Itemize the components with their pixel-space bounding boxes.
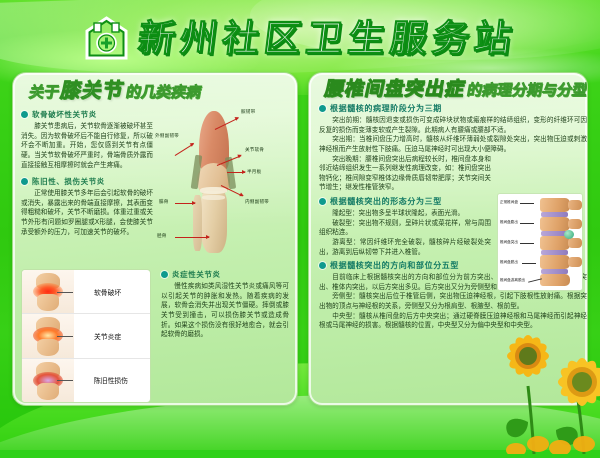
spine-label-disc-bulge: 椎间盘膨出: [500, 220, 518, 225]
vertebra-shape: [540, 274, 570, 286]
meniscus-shape: [202, 195, 225, 200]
arrow-to-meniscus: [227, 172, 245, 173]
left-text-column: 软骨破坏性关节炎 膝关节患病后，关节软骨逐渐被破坏甚至消失。因为软骨破坏后不能自…: [21, 109, 153, 243]
section-paragraph: 游离型：常因纤维环完全破裂，髓核碎片经破裂处突出，游离到后纵韧带下并进入椎管。: [319, 238, 491, 257]
section-title: 根据髓核突出的方向和部位分五型: [330, 260, 459, 271]
cartilage-shape: [200, 187, 227, 194]
spine-diagram: 正常椎间盘 椎间盘膨出 椎间盘突出 椎间盘脱出 椎间盘游离脱出: [497, 193, 583, 291]
section-paragraph: 突出前期：髓核因退变或损伤可变成碎块状物或瘢痕样的结缔组织，变形的纤维环可因反复…: [319, 116, 587, 135]
section-title: 陈旧性、损伤关节炎: [32, 176, 105, 187]
section-heading-row: 根据髓核的病理阶段分为三期: [319, 103, 587, 114]
section-heading-row: 软骨破坏性关节炎: [21, 109, 153, 120]
label-patellar-ligament: 髌韧带: [241, 109, 255, 115]
section-pathological-stages: 根据髓核的病理阶段分为三期 突出前期：髓核因退变或损伤可变成碎块状物或瘢痕样的结…: [319, 103, 587, 193]
section-paragraph: 破裂型：突出物不规则，呈碎片状或菜花样，常与周围组织粘连。: [319, 219, 491, 238]
right-title-tail: 的病理分期与分型: [466, 83, 588, 98]
spine-label-disc-sequestration: 椎间盘游离脱出: [500, 278, 525, 283]
leader-line: [520, 223, 534, 224]
section-body: 正常使用膝关节多年后会引起软骨的破坏或消失，暴露出来的骨端直接摩擦，其表面变得粗…: [21, 189, 153, 237]
section-paragraph: 隆起型：突出物多呈半球状隆起，表面光滑。: [319, 209, 491, 219]
bone-lower-shape: [37, 339, 59, 356]
vertebra-shape: [540, 198, 570, 212]
thumbnail-row: 关节炎症: [22, 314, 150, 358]
thumbnail-label: 软骨破坏: [94, 289, 121, 297]
section-heading-row: 陈旧性、损伤关节炎: [21, 176, 153, 187]
thumbnail-row: 软骨破坏: [22, 270, 150, 314]
thumbnail-label-wrap: 陈旧性损伤: [74, 375, 128, 385]
spinous-process-shape: [568, 200, 582, 210]
section-body: 膝关节患病后，关节软骨逐渐被破坏甚至消失。因为软骨破坏后不能自行修复，所以破坏会…: [21, 122, 153, 170]
label-lateral-collateral-ligament: 外侧副韧带: [155, 133, 179, 139]
bullet-dot-icon: [319, 262, 326, 269]
right-panel-title: 腰椎间盘突出症的病理分期与分型: [309, 73, 587, 101]
section-cartilage-destructive-arthritis: 软骨破坏性关节炎 膝关节患病后，关节软骨逐渐被破坏甚至消失。因为软骨破坏后不能自…: [21, 109, 153, 170]
spine-illustration: [534, 196, 580, 288]
arrow-to-fibula: [175, 203, 195, 204]
spine-label-disc-protrusion: 椎间盘突出: [500, 240, 518, 245]
knee-photo: [191, 111, 237, 253]
leader-line: [57, 292, 73, 293]
content-panels: 关于膝关节的几类疾病 软骨破坏性关节炎 膝关节患病后，关节软骨逐渐被破坏甚至消失…: [12, 72, 588, 406]
label-meniscus: 半月板: [247, 169, 261, 175]
section-title: 根据髓核的病理阶段分为三期: [330, 103, 442, 114]
section-heading-row: 炎症性关节炎: [161, 269, 289, 280]
tibia-shape: [201, 191, 227, 253]
left-title-main: 膝关节: [59, 80, 126, 100]
vertebra-shape: [540, 255, 570, 269]
left-title-lead: 关于: [28, 85, 61, 100]
label-articular-cartilage: 关节软骨: [245, 147, 264, 153]
knee-condition-thumbnails: 软骨破坏 关节炎症: [21, 269, 151, 403]
vertebra-shape: [540, 217, 570, 231]
panel-lumbar-disc-herniation: 腰椎间盘突出症的病理分期与分型 根据髓核的病理阶段分为三期 突出前期：髓核因退变…: [308, 72, 588, 406]
label-medial-collateral-ligament: 内侧副韧带: [245, 199, 269, 205]
arrow-to-tibia: [175, 237, 209, 238]
spinous-process-shape: [568, 257, 582, 267]
thumbnail-label: 陈旧性损伤: [94, 377, 128, 385]
section-paragraph: 旁侧型：髓核突出后位于椎管后侧，突出物压迫神经根，引起下肢根性放射痛。根据突出物…: [319, 292, 587, 311]
section-body: 慢性疾病如类风湿性关节炎或痛风等可以引起关节的肿胀和发热。随着疾病的发展，软骨会…: [161, 282, 289, 340]
left-panel-title: 关于膝关节的几类疾病: [13, 73, 297, 102]
section-paragraph: 突出晚期：腰椎间盘突出后病程较长时，椎间盘本身和邻近结缔组织发生一系列继发性病理…: [319, 155, 491, 194]
bone-lower-shape: [37, 294, 59, 311]
poster-header: 新州社区卫生服务站: [0, 8, 600, 68]
section-paragraph: 突出期：当椎间盘压力增高时，髓核从纤维环薄弱处或裂隙处突出，突出物压迫或刺激神经…: [319, 135, 587, 154]
section-inflammatory-arthritis: 炎症性关节炎 慢性疾病如类风湿性关节炎或痛风等可以引起关节的肿胀和发热。随着疾病…: [161, 269, 289, 340]
thumbnail-row: 陈旧性损伤: [22, 359, 150, 402]
thumbnail-label: 关节炎症: [94, 333, 121, 341]
bone-lower-shape: [37, 383, 59, 400]
herniation-bulge-shape: [564, 230, 574, 239]
leader-line: [522, 263, 536, 264]
leader-line: [57, 380, 73, 381]
section-old-injury-arthritis: 陈旧性、损伤关节炎 正常使用膝关节多年后会引起软骨的破坏或消失，暴露出来的骨端直…: [21, 176, 153, 237]
spine-label-normal-disc: 正常椎间盘: [500, 200, 518, 205]
bullet-dot-icon: [319, 105, 326, 112]
thumbnail-label-wrap: 软骨破坏: [74, 287, 121, 297]
bullet-dot-icon: [21, 178, 28, 185]
bullet-dot-icon: [161, 271, 168, 278]
bullet-dot-icon: [21, 111, 28, 118]
section-paragraph: 中央型：髓核从椎间盘的后方中央突出；通过硬脊膜压迫神经根和马尾神经而引起神经根或…: [319, 312, 587, 331]
spinous-process-shape: [568, 219, 582, 229]
left-title-tail: 的几类疾病: [125, 85, 203, 100]
leader-line: [520, 243, 534, 244]
thumbnail-label-wrap: 关节炎症: [74, 331, 121, 341]
panel-knee-diseases: 关于膝关节的几类疾病 软骨破坏性关节炎 膝关节患病后，关节软骨逐渐被破坏甚至消失…: [12, 72, 298, 406]
section-title: 炎症性关节炎: [172, 269, 221, 280]
leader-line: [57, 336, 73, 337]
spinous-process-shape: [568, 238, 582, 248]
label-tibia: 胫骨: [157, 233, 167, 239]
right-title-main: 腰椎间盘突出症: [323, 80, 467, 99]
clinic-cross-house-icon: [84, 16, 129, 60]
section-title: 根据髓核突出的形态分为三型: [330, 196, 442, 207]
bullet-dot-icon: [319, 198, 326, 205]
leader-line: [520, 203, 534, 204]
knee-anatomy-illustration: 髌韧带 关节软骨 半月板 内侧副韧带 外侧副韧带 腓骨 胫骨: [153, 107, 293, 257]
page-title: 新州社区卫生服务站: [136, 20, 519, 57]
section-title: 软骨破坏性关节炎: [32, 109, 97, 120]
label-fibula: 腓骨: [159, 199, 169, 205]
spine-label-disc-extrusion: 椎间盘脱出: [500, 260, 518, 265]
